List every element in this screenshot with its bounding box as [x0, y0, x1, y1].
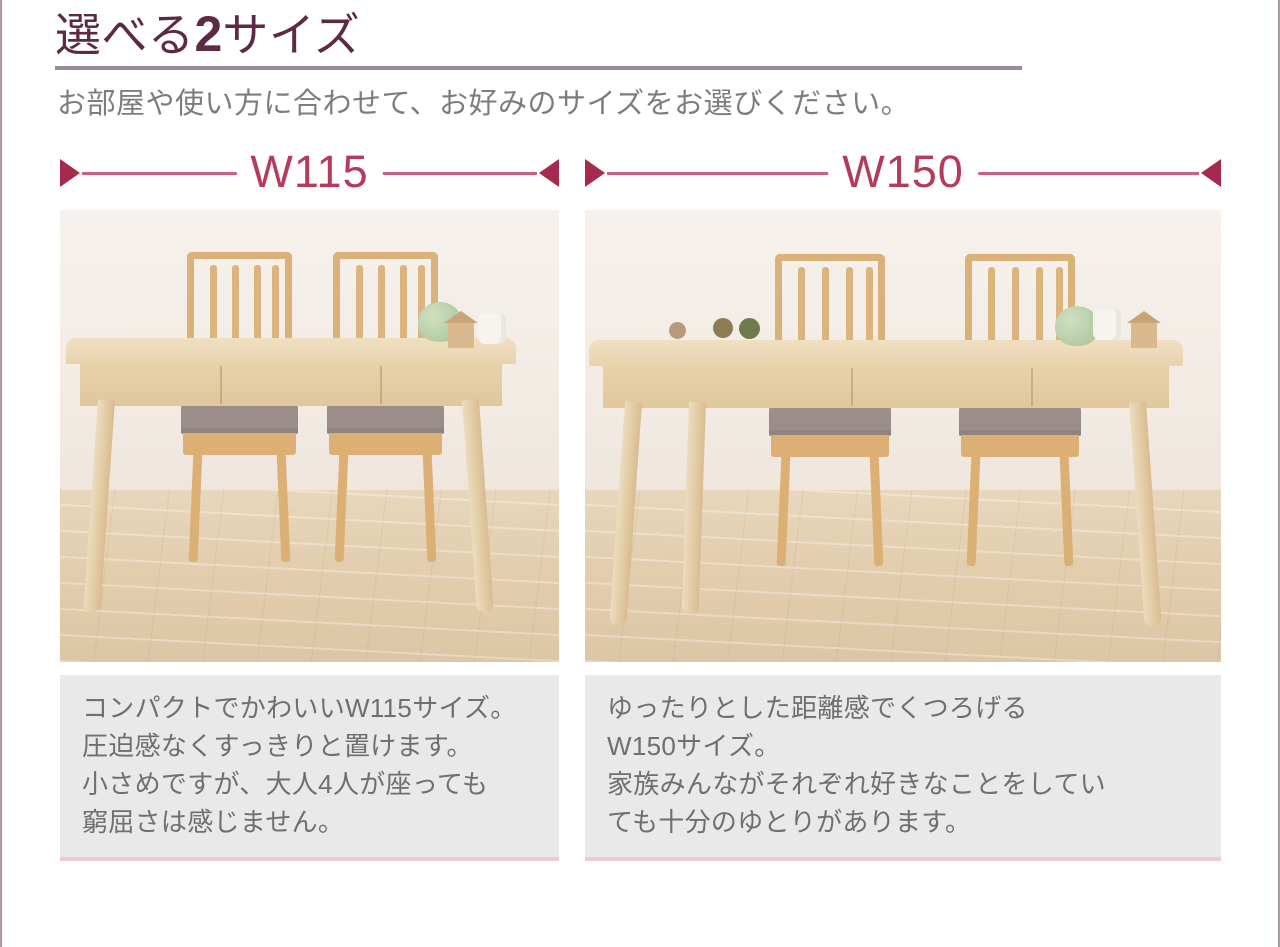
caption-line: 圧迫感なくすっきりと置けます。: [82, 727, 539, 765]
size-option-w115: W115: [60, 150, 559, 861]
caption-w150: ゆったりとした距離感でくつろげる W150サイズ。 家族みんながそれぞれ好きなこ…: [585, 675, 1221, 861]
product-photo-w150: [585, 210, 1221, 662]
size-label-w115: W115: [236, 146, 382, 198]
triangle-right-icon: [585, 159, 605, 187]
dining-table: [66, 338, 516, 658]
table-leg: [462, 399, 494, 612]
table-leg: [1129, 401, 1162, 626]
page-title-prefix: 選べる: [55, 9, 195, 61]
table-leg: [609, 401, 642, 626]
pot-decor-icon: [1093, 310, 1121, 340]
title-divider: [55, 66, 1022, 70]
ball-decor-icon: [739, 318, 760, 339]
table-top: [589, 340, 1183, 366]
page-title: 選べる2サイズ: [55, 6, 1025, 64]
size-banner-w150: W150: [585, 150, 1221, 196]
table-apron: [80, 364, 502, 406]
page-title-wrap: 選べる2サイズ: [55, 6, 1025, 64]
birdhouse-decor-icon: [1131, 322, 1157, 348]
size-comparison-section: 選べる2サイズ お部屋や使い方に合わせて、お好みのサイズをお選びください。 W1…: [0, 0, 1280, 947]
caption-line: ても十分のゆとりがあります。: [607, 803, 1201, 841]
caption-line: 小さめですが、大人4人が座っても: [82, 765, 539, 803]
caption-line: W150サイズ。: [607, 727, 1201, 765]
caption-w115: コンパクトでかわいいW115サイズ。 圧迫感なくすっきりと置けます。 小さめです…: [60, 675, 559, 861]
triangle-left-icon: [1201, 159, 1221, 187]
caption-line: ゆったりとした距離感でくつろげる: [607, 689, 1201, 727]
product-photo-w115: [60, 210, 559, 662]
caption-line: 窮屈さは感じません。: [82, 803, 539, 841]
table-apron: [603, 366, 1169, 408]
table-leg: [83, 399, 115, 612]
page-title-suffix: サイズ: [222, 9, 360, 61]
ball-decor-icon: [713, 318, 733, 338]
ball-decor-icon: [669, 322, 686, 339]
caption-line: コンパクトでかわいいW115サイズ。: [82, 689, 539, 727]
pot-decor-icon: [478, 314, 506, 344]
birdhouse-decor-icon: [448, 322, 474, 348]
size-label-w150: W150: [828, 146, 978, 198]
page-title-number: 2: [195, 6, 223, 62]
table-leg: [682, 402, 706, 614]
triangle-right-icon: [60, 159, 80, 187]
caption-line: 家族みんながそれぞれ好きなことをしてい: [607, 765, 1201, 803]
size-banner-w115: W115: [60, 150, 559, 196]
dining-table: [589, 340, 1183, 660]
triangle-left-icon: [539, 159, 559, 187]
page-subtitle: お部屋や使い方に合わせて、お好みのサイズをお選びください。: [57, 80, 910, 122]
size-option-w150: W150: [585, 150, 1221, 861]
